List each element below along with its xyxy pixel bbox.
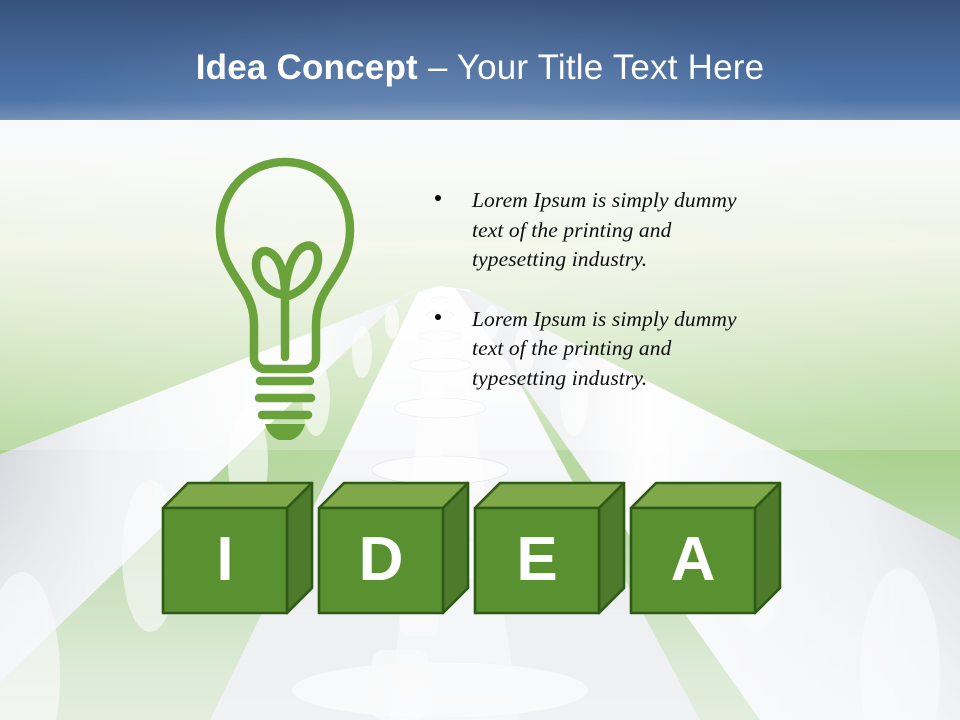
bullet-list: Lorem Ipsum is simply dummy text of the … bbox=[430, 186, 760, 423]
idea-cube-letter: D bbox=[319, 529, 443, 591]
idea-cube-letter: A bbox=[631, 529, 755, 591]
bullet-dot-icon bbox=[435, 314, 441, 320]
title-subtitle: – Your Title Text Here bbox=[418, 48, 764, 87]
bullet-text: Lorem Ipsum is simply dummy text of the … bbox=[472, 188, 737, 271]
bullet-text: Lorem Ipsum is simply dummy text of the … bbox=[472, 307, 737, 390]
title-main: Idea Concept bbox=[196, 48, 418, 87]
idea-cube-letter: E bbox=[475, 529, 599, 591]
list-item: Lorem Ipsum is simply dummy text of the … bbox=[430, 186, 760, 275]
lightbulb-leaf-icon bbox=[190, 150, 380, 440]
bullet-dot-icon bbox=[435, 195, 441, 201]
idea-cube-row: I D E A bbox=[150, 460, 810, 635]
list-item: Lorem Ipsum is simply dummy text of the … bbox=[430, 305, 760, 394]
title-band: Idea Concept – Your Title Text Here bbox=[0, 0, 960, 124]
page-title: Idea Concept – Your Title Text Here bbox=[0, 46, 960, 90]
idea-cube-letter: I bbox=[163, 529, 287, 591]
slide-canvas: Idea Concept – Your Title Text Here Lore… bbox=[0, 0, 960, 720]
